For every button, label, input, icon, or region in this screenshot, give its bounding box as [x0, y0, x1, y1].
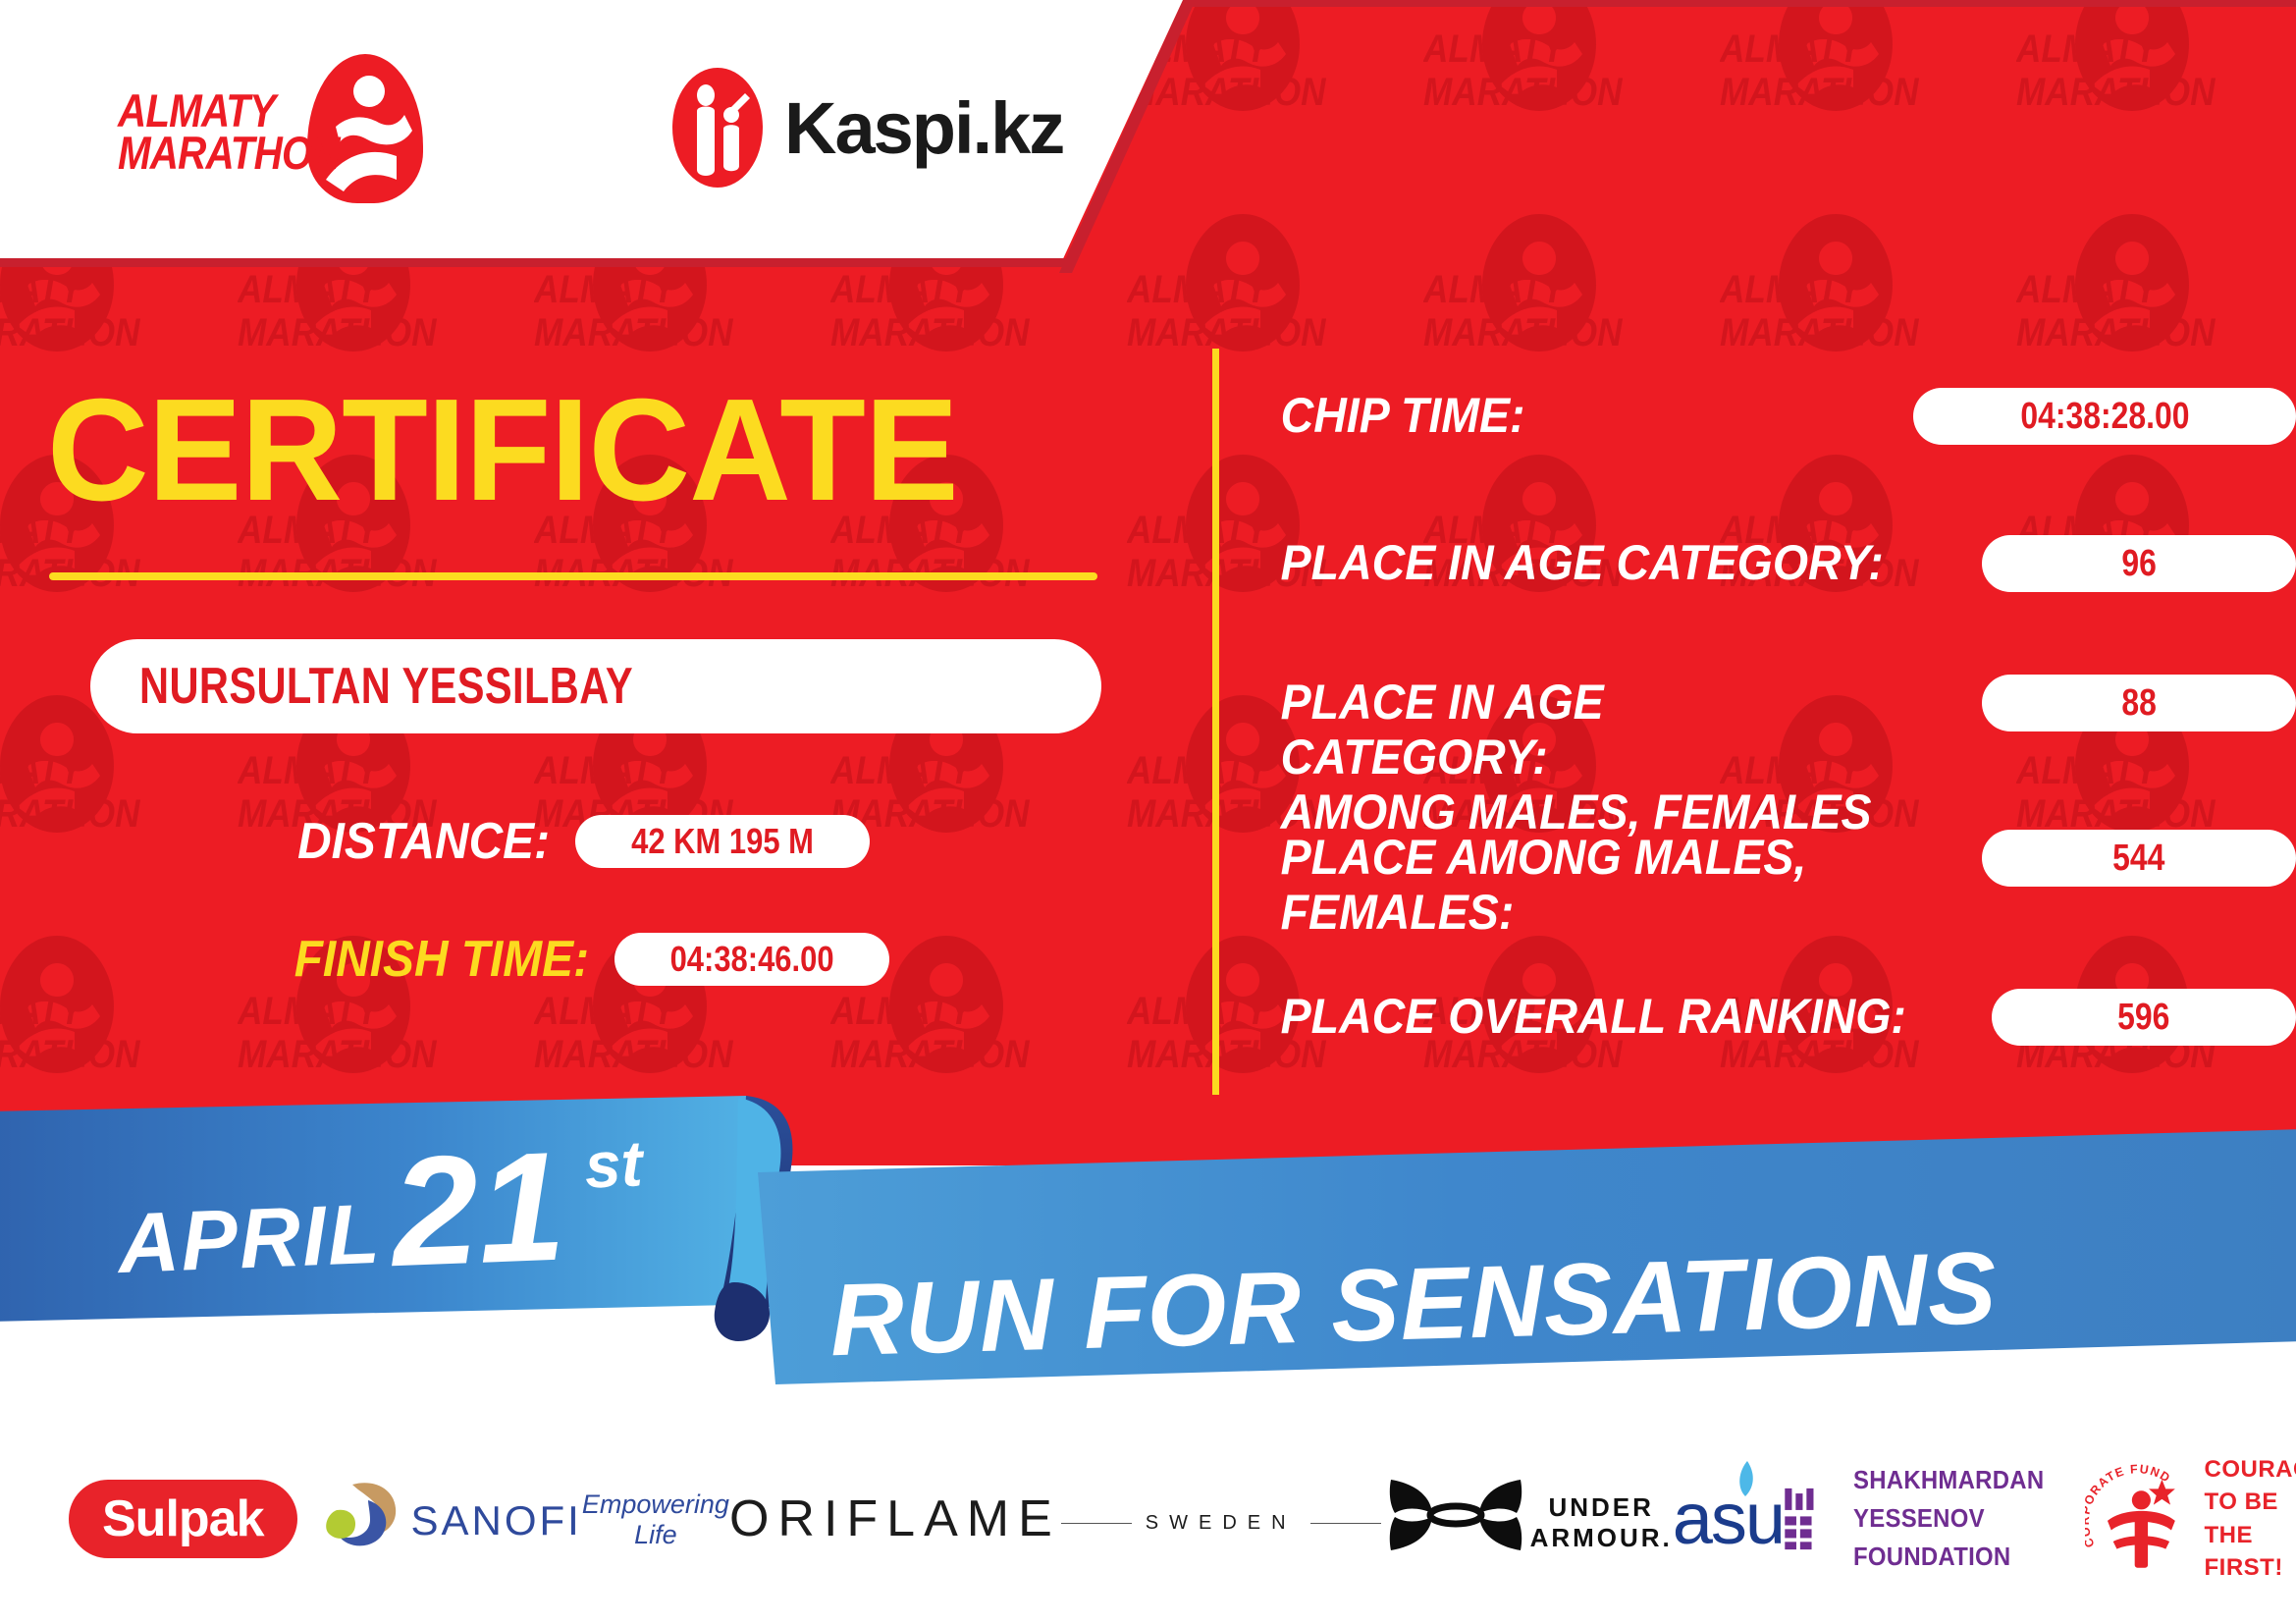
page-title: CERTIFICATE [47, 378, 958, 523]
ribbon-month-text: APRIL [115, 1187, 383, 1291]
event-ribbon: APRIL 21 st RUN FOR SENSATIONS [0, 1090, 2296, 1414]
sanofi-label: SANOFI [411, 1497, 582, 1544]
distance-value-pill: 42 KM 195 M [575, 815, 870, 868]
sulpak-label: Sulpak [102, 1490, 264, 1547]
under-armour-mark-icon [1381, 1474, 1530, 1558]
under-armour-logo [1381, 1474, 1530, 1563]
oriflame-sub-row: SWEDEN [1061, 1512, 1381, 1535]
courage-line-2: TO BE [2205, 1486, 2296, 1518]
title-underline [49, 572, 1097, 580]
column-divider [1212, 349, 1219, 1095]
place-age-category-label: PLACE IN AGE CATEGORY: [1276, 535, 1915, 590]
ribbon-day-text: 21 [386, 1120, 567, 1300]
sanofi-tagline: Empowering Life [582, 1489, 729, 1550]
finish-time-label: FINISH TIME: [47, 930, 589, 989]
yessenov-line-2: FOUNDATION [1853, 1538, 2066, 1576]
place-among-gender-label: PLACE AMONG MALES, FEMALES: [1276, 830, 1842, 940]
oriflame-sub-label: SWEDEN [1146, 1512, 1297, 1535]
sulpak-logo: Sulpak [69, 1480, 297, 1558]
place-age-category-value-pill: 96 [1982, 535, 2296, 592]
finish-time-value: 04:38:46.00 [670, 939, 834, 980]
ribbon-graphic: APRIL 21 st RUN FOR SENSATIONS [0, 1090, 2296, 1414]
place-age-category-gender-row: PLACE IN AGE CATEGORY: AMONG MALES, FEMA… [1276, 675, 2296, 839]
place-age-category-gender-value-pill: 88 [1982, 675, 2296, 731]
chip-time-value: 04:38:28.00 [2020, 396, 2189, 438]
courage-line-3: THE FIRST! [2205, 1519, 2296, 1584]
courage-figure-icon: CORPORATE FUND [2085, 1460, 2190, 1578]
oriflame-rule-right [1310, 1523, 1381, 1524]
place-age-category-gender-label: PLACE IN AGE CATEGORY: AMONG MALES, FEMA… [1276, 675, 1879, 839]
place-overall-row: PLACE OVERALL RANKING: 596 [1276, 989, 2296, 1044]
place-overall-value-pill: 596 [1992, 989, 2296, 1046]
place-age-category-value: 96 [2121, 543, 2157, 585]
sponsor-oriflame: ORIFLAME SWEDEN [729, 1489, 1381, 1548]
sponsor-under-armour: UNDER ARMOUR. [1381, 1474, 1673, 1563]
asu-leaf-icon [1726, 1459, 1759, 1502]
courage-arc-text: CORPORATE FUND [2085, 1462, 2173, 1549]
yessenov-bars-icon [1784, 1472, 1828, 1566]
athlete-name-value: NURSULTAN YESSILBAY [139, 657, 633, 716]
sponsor-asu: asu [1673, 1477, 1784, 1560]
under-armour-label: UNDER ARMOUR. [1530, 1492, 1673, 1553]
finish-time-row: FINISH TIME: 04:38:46.00 [0, 930, 982, 989]
sponsor-sulpak: Sulpak [69, 1480, 297, 1558]
sponsor-sanofi: SANOFI Empowering Life [297, 1481, 729, 1556]
sanofi-logo [297, 1481, 411, 1556]
distance-value: 42 KM 195 M [631, 821, 814, 862]
place-among-gender-row: PLACE AMONG MALES, FEMALES: 544 [1276, 830, 2296, 940]
place-among-gender-value-pill: 544 [1982, 830, 2296, 887]
svg-text:CORPORATE FUND: CORPORATE FUND [2085, 1462, 2173, 1549]
yessenov-line-1: SHAKHMARDAN YESSENOV [1853, 1461, 2066, 1538]
ribbon-day-suffix-text: st [583, 1126, 647, 1201]
courage-line-1: COURAGE [2205, 1453, 2296, 1486]
left-column: CERTIFICATE NURSULTAN YESSILBAY DISTANCE… [0, 7, 1207, 1165]
place-age-category-gender-value: 88 [2121, 682, 2157, 725]
yessenov-text-block: SHAKHMARDAN YESSENOV FOUNDATION [1853, 1461, 2066, 1576]
courage-text-block: COURAGE TO BE THE FIRST! [2205, 1453, 2296, 1583]
oriflame-label: ORIFLAME [729, 1489, 1061, 1548]
chip-time-row: CHIP TIME: 04:38:28.00 [1276, 388, 2296, 443]
place-overall-value: 596 [2117, 997, 2169, 1039]
distance-label: DISTANCE: [44, 812, 550, 871]
place-age-category-row: PLACE IN AGE CATEGORY: 96 [1276, 535, 2296, 590]
distance-row: DISTANCE: 42 KM 195 M [0, 812, 982, 871]
sponsor-courage-fund: CORPORATE FUND COURAGE TO BE THE FIRST! [2085, 1453, 2296, 1583]
sanofi-mark-icon [297, 1481, 411, 1551]
place-among-gender-value: 544 [2112, 838, 2164, 880]
certificate-page: ALMATY MARATHON ALMATY MARATHON [0, 0, 2296, 1624]
sponsor-strip: Sulpak SANOFI Empowering Life ORIFLAME S… [0, 1413, 2296, 1624]
chip-time-label: CHIP TIME: [1276, 388, 1951, 443]
oriflame-rule-left [1061, 1523, 1132, 1524]
asu-logo: asu [1673, 1477, 1784, 1560]
athlete-name-field: NURSULTAN YESSILBAY [90, 639, 1101, 733]
place-overall-label: PLACE OVERALL RANKING: [1276, 989, 1915, 1044]
chip-time-value-pill: 04:38:28.00 [1913, 388, 2296, 445]
sponsor-yessenov-foundation: SHAKHMARDAN YESSENOV FOUNDATION [1784, 1461, 2085, 1576]
right-column: CHIP TIME: 04:38:28.00 PLACE IN AGE CATE… [1276, 7, 2296, 1165]
finish-time-value-pill: 04:38:46.00 [614, 933, 889, 986]
